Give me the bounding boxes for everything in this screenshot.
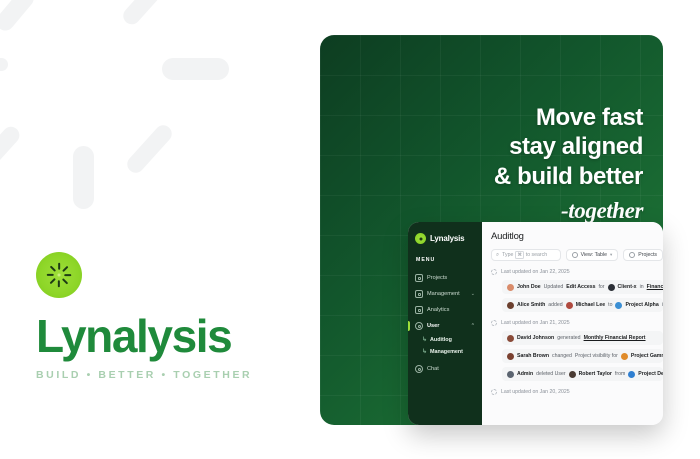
dashboard-main: Auditlog ⌕ Type ⌘ to search View: Table … bbox=[482, 222, 663, 425]
avatar bbox=[628, 371, 635, 378]
chart-icon bbox=[415, 306, 423, 314]
last-updated-jan22: Last updated on Jan 22, 2025 bbox=[491, 269, 663, 275]
search-placeholder-suffix: to search bbox=[526, 252, 547, 258]
entity-name: Project Gamma bbox=[631, 353, 663, 359]
entity-name: Project Delta bbox=[638, 371, 663, 377]
clock-icon bbox=[491, 269, 497, 275]
decor-capsule bbox=[162, 58, 229, 80]
sidebar-subitem-management[interactable]: ↳ Management bbox=[408, 346, 482, 358]
avatar bbox=[507, 302, 514, 309]
avatar bbox=[566, 302, 573, 309]
brand-tagline: BUILD • BETTER • TOGETHER bbox=[36, 369, 296, 381]
kiwi-circle-icon bbox=[36, 252, 82, 298]
sidebar-item-management[interactable]: Management ⌄ bbox=[408, 286, 482, 302]
users-icon bbox=[415, 322, 423, 330]
entity-name: Edit Access bbox=[566, 284, 595, 290]
search-input[interactable]: ⌕ Type ⌘ to search bbox=[491, 249, 561, 261]
sidebar-item-analytics[interactable]: Analytics bbox=[408, 302, 482, 318]
page-title: Auditlog bbox=[491, 231, 663, 242]
sidebar-brand: Lynalysis bbox=[408, 233, 482, 244]
entity-name: Sarah Brown bbox=[517, 353, 549, 359]
table-row[interactable]: John DoeUpdatedEdit AccessforClient-xinF… bbox=[502, 280, 663, 294]
sidebar-item-label: Chat bbox=[427, 366, 439, 372]
gear-icon bbox=[572, 252, 578, 258]
last-updated-label: Last updated on Jan 21, 2025 bbox=[501, 320, 570, 326]
table-row[interactable]: Admindeleted UserRobert TaylorfromProjec… bbox=[502, 367, 663, 381]
decor-capsule bbox=[124, 122, 175, 176]
dashboard-sidebar: Lynalysis MENU Projects Management ⌄ Ana… bbox=[408, 222, 482, 425]
table-row[interactable]: Sarah BrownchangedProject visibility for… bbox=[502, 349, 663, 363]
sidebar-item-label: Analytics bbox=[427, 307, 449, 313]
resource-link[interactable]: Monthly Financial Report bbox=[584, 335, 646, 341]
decor-capsule bbox=[0, 58, 8, 71]
chat-icon bbox=[415, 365, 423, 373]
sidebar-subitem-label: Management bbox=[430, 349, 463, 355]
brand-block: Lynalysis BUILD • BETTER • TOGETHER bbox=[36, 252, 296, 381]
clock-icon bbox=[491, 389, 497, 395]
sidebar-brand-label: Lynalysis bbox=[430, 234, 464, 243]
row-text: Updated bbox=[544, 284, 564, 290]
gear-icon bbox=[629, 252, 635, 258]
sidebar-subitem-auditlog[interactable]: ↳ Auditlog bbox=[408, 334, 482, 346]
row-text: in role ( bbox=[662, 302, 663, 308]
avatar bbox=[507, 371, 514, 378]
sidebar-nav: Projects Management ⌄ Analytics User ⌃ ↳… bbox=[408, 270, 482, 377]
avatar bbox=[621, 353, 628, 360]
clock-icon bbox=[491, 320, 497, 326]
avatar bbox=[507, 335, 514, 342]
sidebar-item-label: Management bbox=[427, 291, 460, 297]
avatar bbox=[608, 284, 615, 291]
sidebar-subitem-label: Auditlog bbox=[430, 337, 452, 343]
sidebar-item-user[interactable]: User ⌃ bbox=[408, 318, 482, 334]
last-updated-label: Last updated on Jan 22, 2025 bbox=[501, 269, 570, 275]
sidebar-item-projects[interactable]: Projects bbox=[408, 270, 482, 286]
last-updated-jan20: Last updated on Jan 20, 2025 bbox=[491, 389, 663, 395]
hero-line-3: & build better bbox=[494, 162, 643, 191]
avatar bbox=[507, 284, 514, 291]
avatar bbox=[569, 371, 576, 378]
table-row[interactable]: Alice SmithaddedMichael LeetoProject Alp… bbox=[502, 298, 663, 312]
branch-icon: ↳ bbox=[422, 337, 427, 343]
entity-name: Robert Taylor bbox=[579, 371, 612, 377]
search-placeholder: Type ⌘ to search bbox=[502, 251, 547, 260]
dashboard-card: Lynalysis MENU Projects Management ⌄ Ana… bbox=[408, 222, 663, 425]
decor-capsule bbox=[0, 0, 37, 34]
row-text: Project visibility for bbox=[575, 353, 618, 359]
entity-name: Admin bbox=[517, 371, 533, 377]
chevron-down-icon[interactable]: ⌄ bbox=[471, 292, 475, 297]
decor-capsule bbox=[120, 0, 163, 28]
last-updated-label: Last updated on Jan 20, 2025 bbox=[501, 389, 570, 395]
entity-name: Project Alpha bbox=[625, 302, 658, 308]
last-updated-jan21: Last updated on Jan 21, 2025 bbox=[491, 320, 663, 326]
resource-link[interactable]: Financials bbox=[647, 284, 663, 290]
sidebar-item-chat[interactable]: Chat bbox=[408, 361, 482, 377]
entity-name: Alice Smith bbox=[517, 302, 545, 308]
entity-name: John Doe bbox=[517, 284, 541, 290]
search-placeholder-prefix: Type bbox=[502, 252, 513, 258]
brand-name: Lynalysis bbox=[36, 312, 296, 360]
entity-name: David Johnson bbox=[517, 335, 554, 341]
chevron-up-icon[interactable]: ⌃ bbox=[471, 324, 475, 329]
row-text: from bbox=[615, 371, 625, 377]
view-table-button[interactable]: View: Table ▾ bbox=[566, 249, 619, 261]
hero-line-1: Move fast bbox=[494, 103, 643, 132]
row-text: deleted User bbox=[536, 371, 565, 377]
chevron-down-icon: ▾ bbox=[610, 252, 612, 258]
row-text: in bbox=[640, 284, 644, 290]
sidebar-item-label: User bbox=[427, 323, 439, 329]
view-table-label: View: Table bbox=[581, 252, 607, 258]
row-text: generated bbox=[557, 335, 580, 341]
kiwi-circle-icon bbox=[415, 233, 426, 244]
entity-name: Client-x bbox=[618, 284, 637, 290]
hero-copy: Move fast stay aligned & build better -t… bbox=[494, 103, 643, 225]
row-text: for bbox=[598, 284, 604, 290]
avatar bbox=[615, 302, 622, 309]
hero-signature: -together bbox=[494, 197, 643, 225]
avatar bbox=[507, 353, 514, 360]
row-text: added bbox=[548, 302, 562, 308]
toolbar: ⌕ Type ⌘ to search View: Table ▾ Project… bbox=[491, 249, 663, 261]
decorative-shapes bbox=[0, 0, 330, 459]
row-text: changed bbox=[552, 353, 572, 359]
decor-capsule bbox=[0, 123, 23, 175]
projects-filter-button[interactable]: Projects bbox=[623, 249, 663, 261]
table-row[interactable]: David JohnsongeneratedMonthly Financial … bbox=[502, 331, 663, 345]
sidebar-item-label: Projects bbox=[427, 275, 447, 281]
branch-icon: ↳ bbox=[422, 349, 427, 355]
hero-line-2: stay aligned bbox=[494, 132, 643, 161]
auditlog-group-jan22: John DoeUpdatedEdit AccessforClient-xinF… bbox=[491, 280, 663, 312]
entity-name: Michael Lee bbox=[576, 302, 605, 308]
command-key-badge: ⌘ bbox=[515, 251, 523, 260]
folder-icon bbox=[415, 274, 423, 282]
search-icon: ⌕ bbox=[496, 252, 499, 259]
sidebar-menu-label: MENU bbox=[408, 257, 482, 263]
auditlog-group-jan21: David JohnsongeneratedMonthly Financial … bbox=[491, 331, 663, 381]
projects-filter-label: Projects bbox=[638, 252, 657, 258]
row-text: to bbox=[608, 302, 612, 308]
decor-capsule bbox=[73, 146, 94, 209]
briefcase-icon bbox=[415, 290, 423, 298]
